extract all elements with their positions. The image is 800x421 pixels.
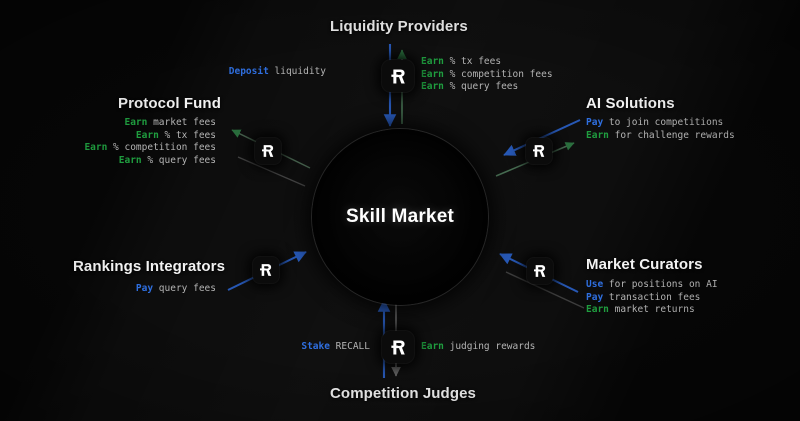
- keyword: Earn: [421, 81, 444, 92]
- recall-logo-icon-curators: [527, 258, 553, 284]
- competition-judges-outflow-list: Earn judging rewards: [421, 341, 535, 354]
- keyword: Earn: [119, 155, 142, 166]
- flow-text: query fees: [153, 283, 216, 294]
- keyword: Earn: [421, 341, 444, 352]
- ai-solutions-list: Pay to join competitions Earn for challe…: [586, 117, 735, 142]
- liquidity-providers-inflow-list: Deposit liquidity: [186, 66, 326, 79]
- flow-text: judging rewards: [444, 341, 536, 352]
- keyword: Deposit: [229, 66, 269, 77]
- node-title-liquidity-providers[interactable]: Liquidity Providers: [330, 18, 468, 35]
- flow-text: % competition fees: [107, 142, 216, 153]
- keyword: Earn: [586, 130, 609, 141]
- flow-text: % query fees: [142, 155, 216, 166]
- flow-text: % tx fees: [159, 130, 216, 141]
- node-title-protocol-fund[interactable]: Protocol Fund: [118, 95, 221, 112]
- keyword: Pay: [136, 283, 153, 294]
- hub-label: Skill Market: [346, 206, 454, 228]
- node-title-rankings-integrators[interactable]: Rankings Integrators: [73, 258, 225, 275]
- keyword: Earn: [84, 142, 107, 153]
- flow-text: liquidity: [269, 66, 326, 77]
- flow-text: % competition fees: [444, 69, 553, 80]
- flow-line: Earn % tx fees: [421, 56, 553, 69]
- diagram-canvas: Skill Market Liquidity Providers Deposit…: [0, 0, 800, 421]
- flow-text: market fees: [147, 117, 216, 128]
- flow-line: Pay transaction fees: [586, 292, 718, 305]
- flow-line: Pay to join competitions: [586, 117, 735, 130]
- recall-logo-icon-judges: [382, 331, 414, 363]
- flow-text: RECALL: [330, 341, 370, 352]
- keyword: Earn: [136, 130, 159, 141]
- keyword: Earn: [124, 117, 147, 128]
- competition-judges-inflow-list: Stake RECALL: [222, 341, 370, 354]
- flow-line: Earn % tx fees: [26, 130, 216, 143]
- flow-text: to join competitions: [603, 117, 723, 128]
- flow-line: Earn market returns: [586, 304, 718, 317]
- skill-market-hub[interactable]: Skill Market: [312, 129, 488, 305]
- flow-line: Earn % query fees: [421, 81, 553, 94]
- liquidity-providers-outflow-list: Earn % tx fees Earn % competition fees E…: [421, 56, 553, 94]
- flow-text: % tx fees: [444, 56, 501, 67]
- node-title-competition-judges[interactable]: Competition Judges: [330, 385, 476, 402]
- flow-line: Earn judging rewards: [421, 341, 535, 354]
- rankings-integrators-list: Pay query fees: [26, 283, 216, 296]
- recall-logo-icon-protocol-fund: [255, 138, 281, 164]
- flow-line: Stake RECALL: [222, 341, 370, 354]
- node-title-ai-solutions[interactable]: AI Solutions: [586, 95, 675, 112]
- keyword: Stake: [301, 341, 330, 352]
- protocol-fund-list: Earn market fees Earn % tx fees Earn % c…: [26, 117, 216, 167]
- keyword: Pay: [586, 117, 603, 128]
- flow-line: Earn % query fees: [26, 155, 216, 168]
- recall-logo-icon-liquidity: [382, 60, 414, 92]
- flow-line: Deposit liquidity: [186, 66, 326, 79]
- flow-text: % query fees: [444, 81, 518, 92]
- keyword: Earn: [421, 69, 444, 80]
- flow-text: transaction fees: [603, 292, 700, 303]
- flow-line: Earn % competition fees: [421, 69, 553, 82]
- recall-logo-icon-ai-solutions: [526, 138, 552, 164]
- keyword: Use: [586, 279, 603, 290]
- flow-text: market returns: [609, 304, 695, 315]
- flow-line: Use for positions on AI: [586, 279, 718, 292]
- flow-line: Earn for challenge rewards: [586, 130, 735, 143]
- keyword: Pay: [586, 292, 603, 303]
- flow-text: for challenge rewards: [609, 130, 735, 141]
- flow-line: Earn % competition fees: [26, 142, 216, 155]
- flow-text: for positions on AI: [603, 279, 717, 290]
- keyword: Earn: [586, 304, 609, 315]
- flow-line: Pay query fees: [26, 283, 216, 296]
- recall-logo-icon-rankings: [253, 257, 279, 283]
- market-curators-list: Use for positions on AI Pay transaction …: [586, 279, 718, 317]
- flow-line: Earn market fees: [26, 117, 216, 130]
- node-title-market-curators[interactable]: Market Curators: [586, 256, 703, 273]
- keyword: Earn: [421, 56, 444, 67]
